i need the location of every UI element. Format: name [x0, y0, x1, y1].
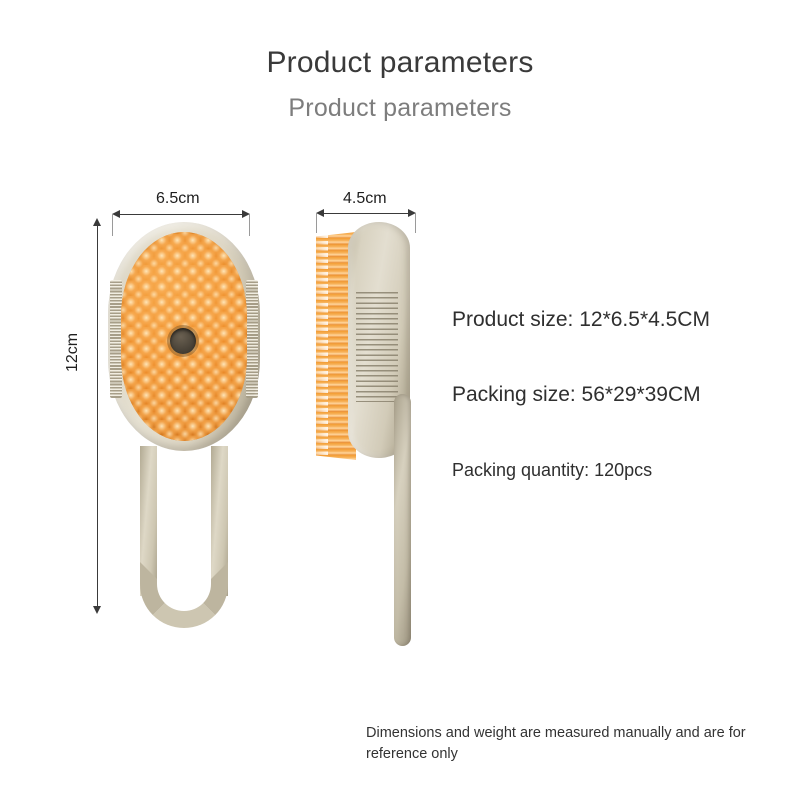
- comb-teeth-right: [246, 280, 258, 398]
- dimension-tick-side-width-left: [316, 213, 317, 233]
- dimension-arrow-front-width-left: [112, 210, 120, 218]
- dimension-line-side-width: [324, 213, 408, 214]
- dimension-line-front-width: [120, 214, 242, 215]
- handle-side: [394, 394, 411, 646]
- spec-product-size: Product size: 12*6.5*4.5CM: [452, 308, 710, 332]
- dimension-label-side-width: 4.5cm: [343, 190, 387, 208]
- spec-packing-size: Packing size: 56*29*39CM: [452, 383, 701, 407]
- dimension-label-front-width: 6.5cm: [156, 190, 200, 208]
- product-side-view-image: [310, 220, 440, 635]
- dimension-tick-front-width-right: [249, 214, 250, 236]
- dimension-line-front-height: [97, 226, 98, 606]
- page-subtitle: Product parameters: [0, 94, 800, 123]
- center-nozzle-hole: [170, 328, 196, 354]
- measurement-disclaimer: Dimensions and weight are measured manua…: [366, 723, 756, 765]
- dimension-arrow-front-height-bottom: [93, 606, 101, 614]
- dimension-label-front-height: 12cm: [64, 333, 82, 372]
- dimension-tick-front-width-left: [112, 214, 113, 236]
- dimension-arrow-side-width-left: [316, 209, 324, 217]
- dimension-tick-side-width-right: [415, 213, 416, 233]
- product-front-view-image: [108, 222, 260, 627]
- body-ridge-lines: [356, 292, 398, 402]
- page-title: Product parameters: [0, 46, 800, 80]
- bristle-tips: [312, 232, 328, 460]
- handle-loop-bottom: [140, 562, 228, 628]
- dimension-arrow-front-height-top: [93, 218, 101, 226]
- spec-packing-quantity: Packing quantity: 120pcs: [452, 460, 652, 481]
